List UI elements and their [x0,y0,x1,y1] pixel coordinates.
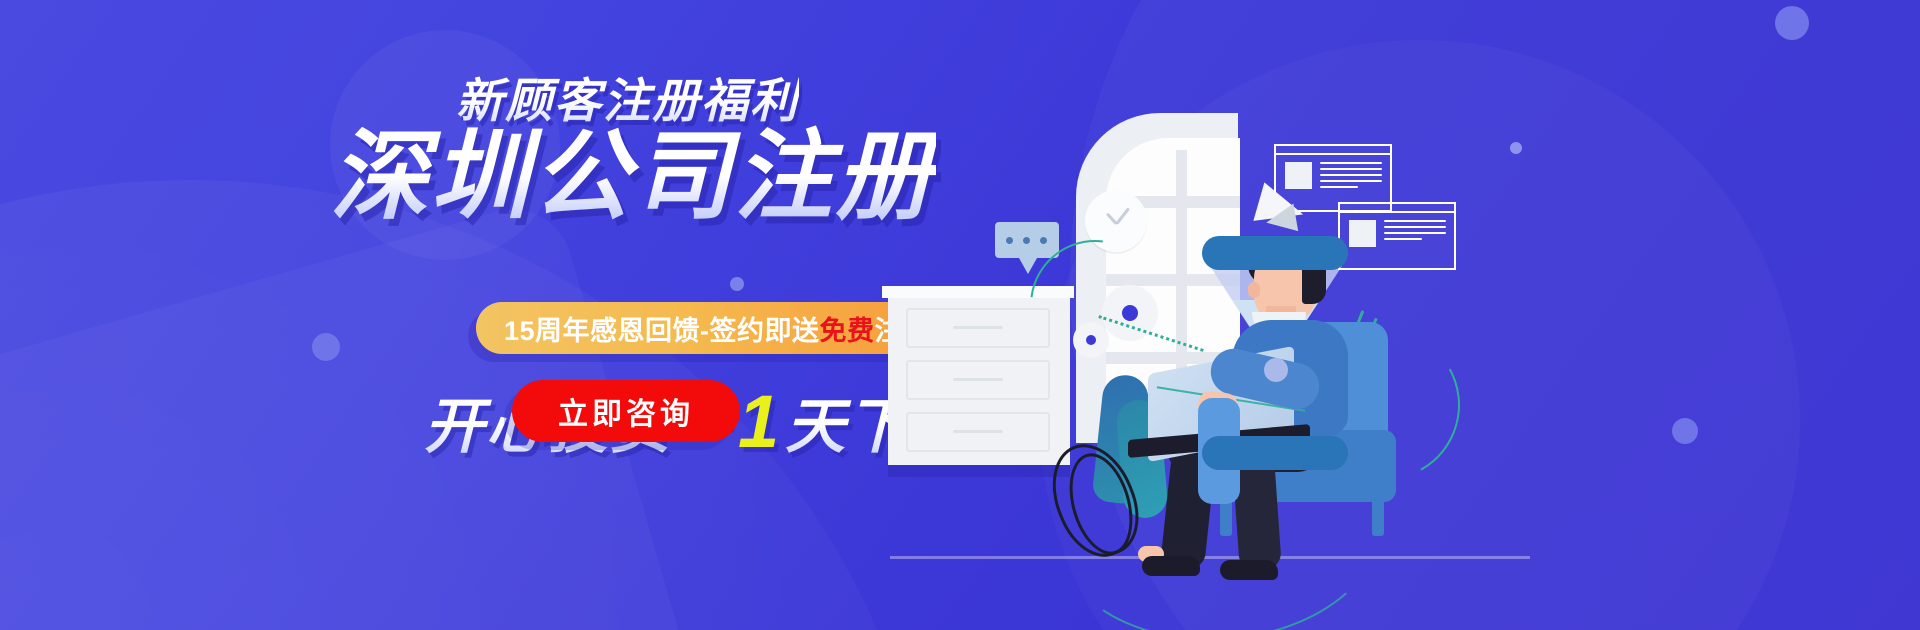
clock-minute-hand [1115,207,1130,225]
person-shoe [1142,556,1200,576]
promo-banner: 新顾客注册福利 深圳公司注册 15周年感恩回馈-签约即送 免费 注册 开心投资－… [0,0,1920,630]
document-card-icon [1338,202,1456,270]
promo-badge-prefix: 15周年感恩回馈-签约即送 [504,309,820,348]
document-card-header [1340,204,1454,213]
sofa-leg [1372,498,1384,536]
illustration [880,0,1920,630]
consult-now-button[interactable]: 立即咨询 [512,380,740,442]
document-card-header [1276,146,1390,155]
subheadline-number: 1 [738,379,781,464]
drawer-handle [953,430,1003,433]
document-card-lines [1320,162,1382,192]
promo-badge-highlight: 免费 [820,309,875,348]
hourglass-neck [1264,358,1288,382]
chat-bubble-icon [995,222,1059,258]
drawer-handle [953,378,1003,381]
paper-plane-fold [1264,204,1298,237]
document-card-thumb [1349,220,1376,247]
banner-copy-block: 新顾客注册福利 深圳公司注册 15周年感恩回馈-签约即送 免费 注册 开心投资－… [0,0,960,630]
person-ear [1248,282,1260,298]
person-shoe [1220,560,1278,580]
document-card-thumb [1285,162,1312,189]
document-card-lines [1384,220,1446,244]
hourglass-cap-bottom [1202,436,1348,470]
drawer-handle [953,326,1003,329]
hourglass-cap-top [1202,236,1348,270]
page-title: 深圳公司注册 [330,125,936,228]
cabinet-shadow [888,465,1070,477]
